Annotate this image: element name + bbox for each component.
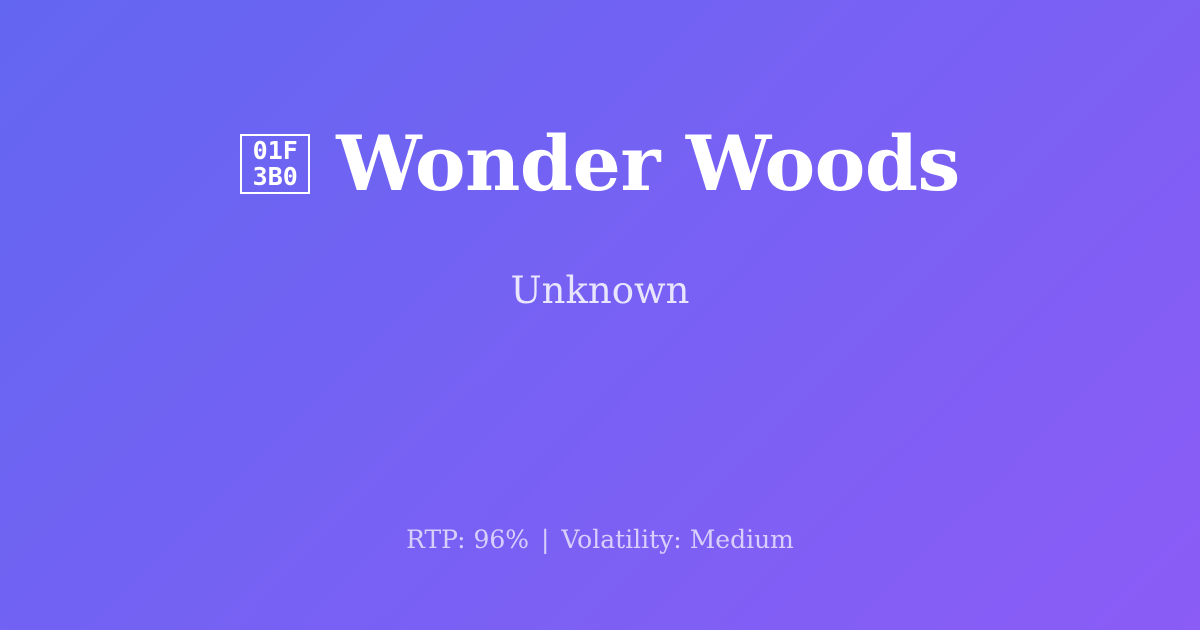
game-provider: Unknown: [510, 272, 689, 309]
volatility-label: Volatility:: [561, 525, 681, 554]
hero-block: 01F 3B0 Wonder Woods Unknown: [0, 0, 1200, 497]
title-row: 01F 3B0 Wonder Woods: [240, 126, 960, 202]
game-title: Wonder Woods: [336, 126, 960, 202]
game-stats-line: RTP: 96% | Volatility: Medium: [0, 527, 1200, 552]
slot-machine-icon: 01F 3B0: [240, 134, 310, 194]
rtp-label: RTP:: [406, 525, 465, 554]
stats-separator: |: [537, 525, 553, 554]
og-preview-card: 01F 3B0 Wonder Woods Unknown RTP: 96% | …: [0, 0, 1200, 630]
missing-glyph-codepoint-high: 01F: [253, 138, 298, 164]
volatility-value: Medium: [690, 525, 794, 554]
rtp-value: 96%: [473, 525, 529, 554]
missing-glyph-codepoint-low: 3B0: [253, 164, 298, 190]
